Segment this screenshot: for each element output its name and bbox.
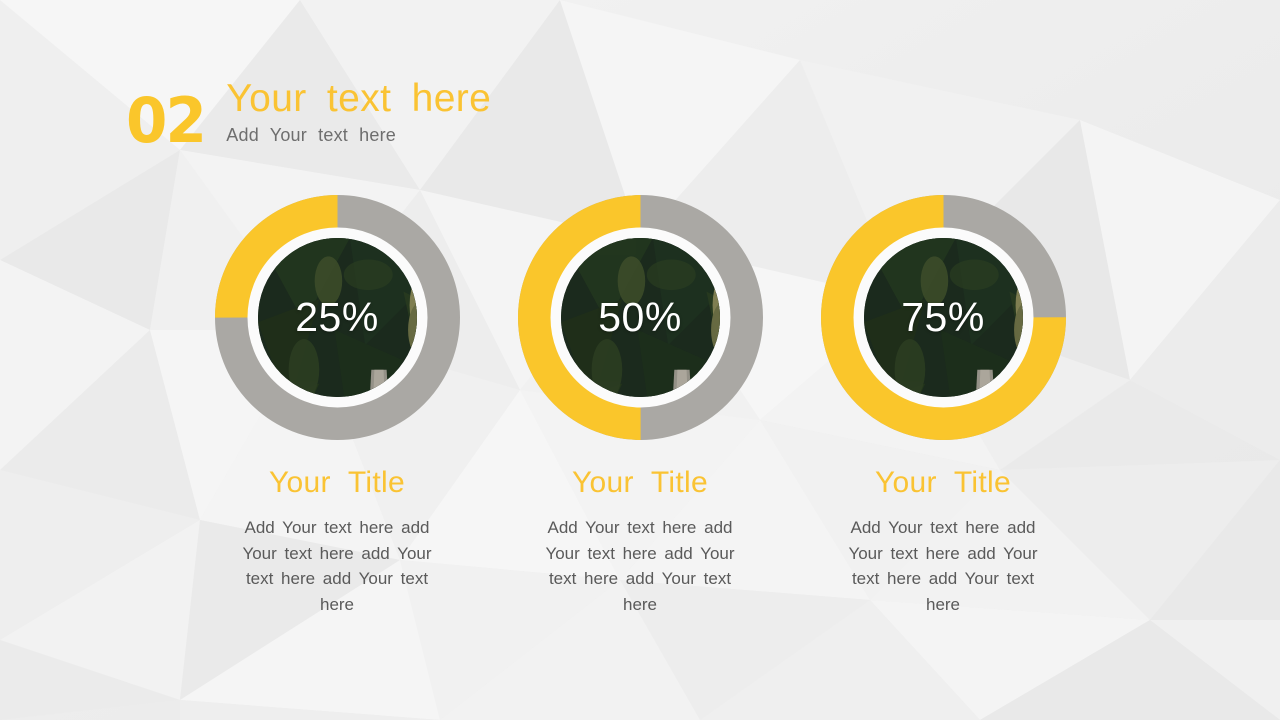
presentation-slide: 02 Your text here Add Your text here bbox=[0, 0, 1280, 720]
donut-chart-2: 50% bbox=[518, 195, 763, 440]
donut-value-1: 25% bbox=[215, 195, 460, 440]
column-title-3: Your Title bbox=[875, 466, 1011, 500]
slide-header: 02 Your text here Add Your text here bbox=[126, 78, 491, 152]
stat-column-1: 25% Your Title Add Your text here add Yo… bbox=[186, 195, 489, 617]
donut-columns: 25% Your Title Add Your text here add Yo… bbox=[0, 195, 1280, 617]
donut-chart-3: 75% bbox=[821, 195, 1066, 440]
section-number: 02 bbox=[126, 90, 205, 152]
donut-value-3: 75% bbox=[821, 195, 1066, 440]
header-text-group: Your text here Add Your text here bbox=[226, 78, 491, 146]
column-body-3: Add Your text here add Your text here ad… bbox=[841, 515, 1046, 617]
donut-chart-1: 25% bbox=[215, 195, 460, 440]
stat-column-2: 50% Your Title Add Your text here add Yo… bbox=[489, 195, 792, 617]
column-body-1: Add Your text here add Your text here ad… bbox=[235, 515, 440, 617]
donut-value-2: 50% bbox=[518, 195, 763, 440]
page-title: Your text here bbox=[226, 78, 491, 120]
stat-column-3: 75% Your Title Add Your text here add Yo… bbox=[792, 195, 1095, 617]
column-title-1: Your Title bbox=[269, 466, 405, 500]
column-body-2: Add Your text here add Your text here ad… bbox=[538, 515, 743, 617]
page-subtitle: Add Your text here bbox=[226, 125, 491, 146]
column-title-2: Your Title bbox=[572, 466, 708, 500]
